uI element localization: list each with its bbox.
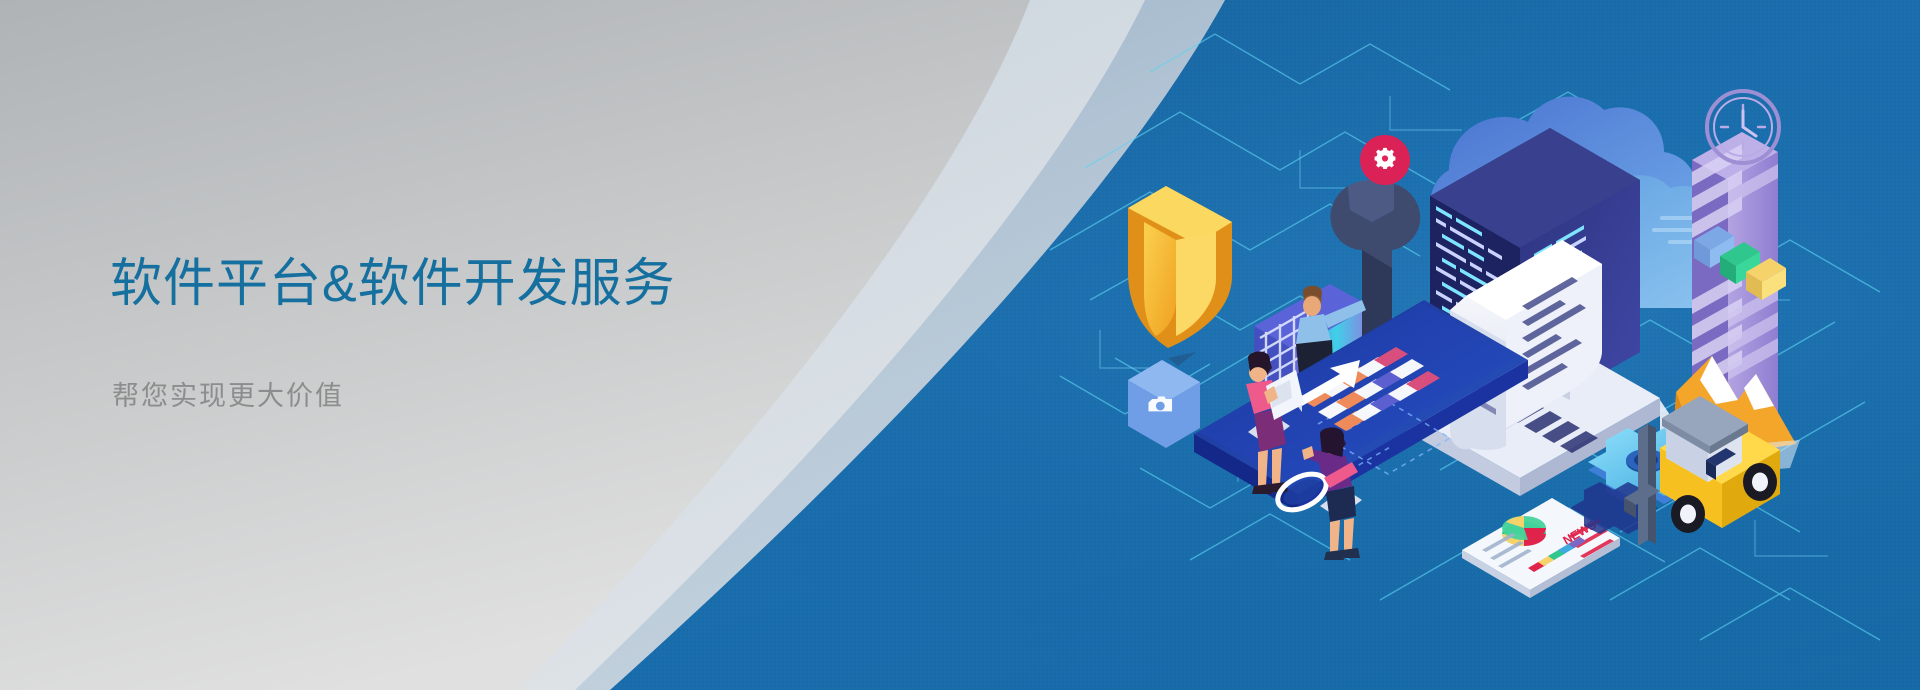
page-title: 软件平台&软件开发服务 bbox=[110, 258, 676, 310]
page-subtitle: 帮您实现更大价值 bbox=[112, 383, 344, 410]
banner-text-block: 软件平台&软件开发服务 帮您实现更大价值 bbox=[0, 0, 1920, 690]
hero-banner: NEWS bbox=[0, 0, 1920, 690]
